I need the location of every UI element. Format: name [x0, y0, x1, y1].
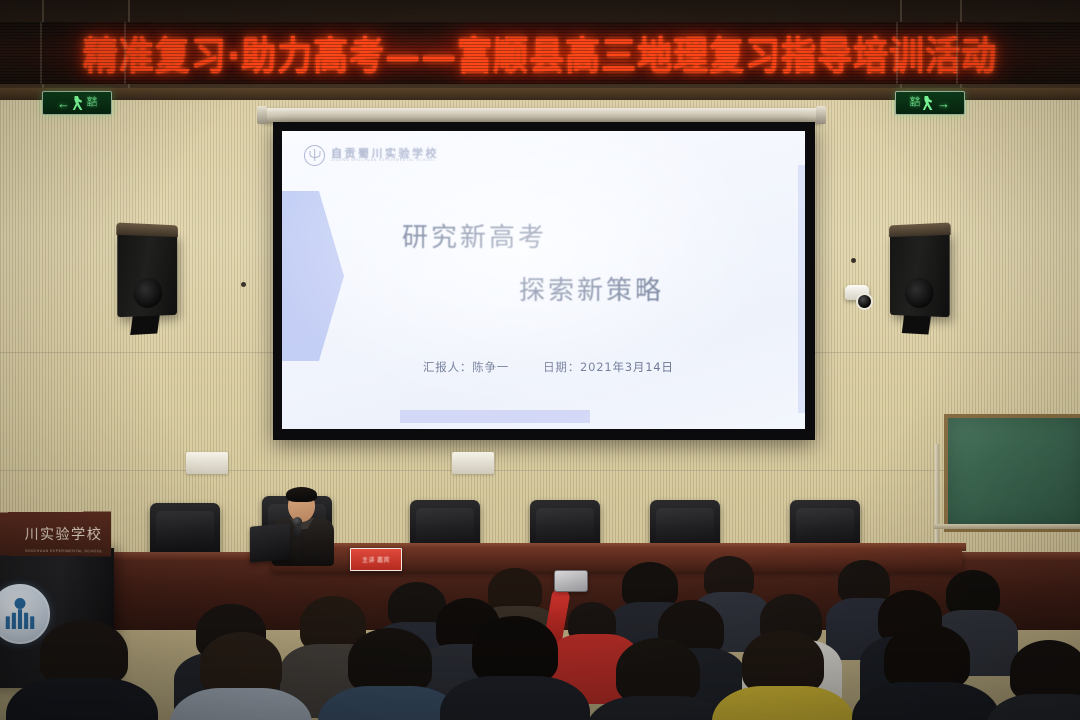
- slide-date: 日期：2021年3月14日: [543, 359, 674, 375]
- nameplate-text-left: 主讲: [362, 555, 375, 564]
- wall-fixing-screw: [241, 282, 246, 287]
- nameplate-text-right: 嘉宾: [377, 555, 390, 564]
- roller-end-cap: [816, 106, 826, 124]
- lecture-hall-photo: 精准复习·助力高考——富顺县高三地理复习指导培训活动 ← 安全出口 安全出口 →: [0, 0, 1080, 720]
- podium-emblem: [0, 584, 50, 644]
- led-banner-text: 精准复习·助力高考——富顺县高三地理复习指导培训活动: [83, 24, 997, 81]
- podium-sign: 川实验学校 SHUCHUAN EXPERIMENTAL SCHOOL: [0, 512, 111, 557]
- school-emblem-icon: [304, 145, 325, 166]
- screen-roller-housing: [262, 108, 822, 122]
- chalkboard-tray: [934, 524, 1080, 529]
- slide-title-line1: 研究新高考: [402, 217, 547, 254]
- wall-fixing-screw: [851, 258, 856, 263]
- running-man-icon: [922, 96, 935, 110]
- laptop-lid: [250, 523, 290, 562]
- laptop: [248, 525, 294, 565]
- wall-speaker-left: [117, 231, 177, 317]
- camera-lens-icon: [856, 293, 873, 310]
- nameplate: 主讲 嘉宾: [350, 548, 402, 571]
- roller-end-cap: [257, 106, 267, 124]
- school-logo-en: ZIGONG SHUCHUAN EXPERIMENTAL SCHOOL: [331, 159, 439, 163]
- exit-sign-right: 安全出口 →: [895, 91, 965, 115]
- wall-outlet-plate: [186, 452, 228, 474]
- exit-sign-left: ← 安全出口: [42, 91, 112, 115]
- slide-presenter: 汇报人：陈争一: [423, 359, 509, 375]
- slide-metadata: 汇报人：陈争一 日期：2021年3月14日: [423, 359, 674, 375]
- slide-chevron-decoration: [282, 191, 344, 361]
- smartphone: [554, 570, 588, 592]
- wall-seam: [0, 470, 1080, 472]
- school-logo: 自贡蜀川实验学校 ZIGONG SHUCHUAN EXPERIMENTAL SC…: [304, 145, 439, 166]
- microphone-head-icon: [293, 517, 302, 526]
- presenter-hair: [286, 487, 317, 502]
- podium-sign-en: SHUCHUAN EXPERIMENTAL SCHOOL: [25, 549, 102, 553]
- wall-speaker-right: [890, 231, 950, 317]
- arrow-left-icon: ←: [57, 97, 70, 110]
- slide-side-band: [798, 165, 805, 413]
- slide-accent-band: [400, 410, 590, 423]
- wall-outlet-plate: [452, 452, 494, 474]
- running-man-icon: [72, 96, 85, 110]
- security-camera: [845, 285, 869, 300]
- exit-label-right: 安全出口: [910, 98, 920, 108]
- led-banner: 精准复习·助力高考——富顺县高三地理复习指导培训活动: [0, 22, 1080, 84]
- presentation-slide: 自贡蜀川实验学校 ZIGONG SHUCHUAN EXPERIMENTAL SC…: [282, 131, 805, 429]
- exit-label-left: 安全出口: [87, 98, 97, 108]
- slide-title-line2: 探索新策略: [519, 270, 664, 307]
- chalkboard: [944, 414, 1080, 532]
- projection-screen: 自贡蜀川实验学校 ZIGONG SHUCHUAN EXPERIMENTAL SC…: [273, 122, 815, 440]
- podium-sign-text: 川实验学校: [25, 524, 103, 544]
- arrow-right-icon: →: [937, 97, 950, 110]
